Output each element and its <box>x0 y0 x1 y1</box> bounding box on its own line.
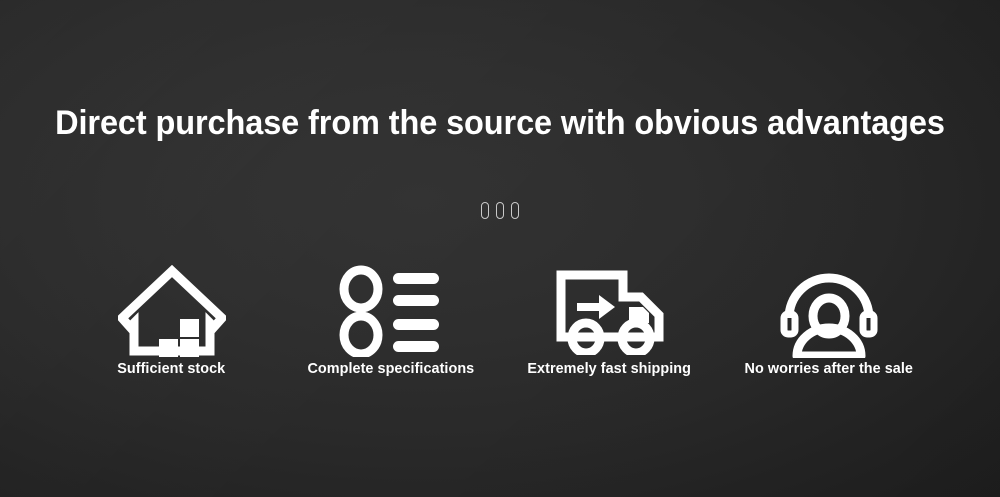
divider-pill-3 <box>511 202 519 219</box>
feature-list: Sufficient stock Complete specifications <box>62 262 938 378</box>
divider-pill-2 <box>496 202 504 219</box>
feature-item-complete-specifications: Complete specifications <box>281 262 500 378</box>
feature-label: No worries after the sale <box>744 360 912 378</box>
specification-list-icon <box>339 262 443 360</box>
warehouse-stock-icon <box>118 262 226 360</box>
feature-item-sufficient-stock: Sufficient stock <box>62 262 281 378</box>
divider-pill-1 <box>481 202 489 219</box>
feature-item-no-worries-after-the-sale: No worries after the sale <box>719 262 938 378</box>
feature-label: Complete specifications <box>307 360 474 378</box>
feature-label: Extremely fast shipping <box>528 360 692 378</box>
delivery-truck-icon <box>555 262 665 360</box>
feature-label: Sufficient stock <box>118 360 226 378</box>
three-pill-divider <box>0 200 1000 220</box>
headset-support-icon <box>777 262 881 360</box>
page-title: Direct purchase from the source with obv… <box>23 103 978 143</box>
promo-banner: Direct purchase from the source with obv… <box>0 0 1000 497</box>
feature-item-extremely-fast-shipping: Extremely fast shipping <box>500 262 719 378</box>
